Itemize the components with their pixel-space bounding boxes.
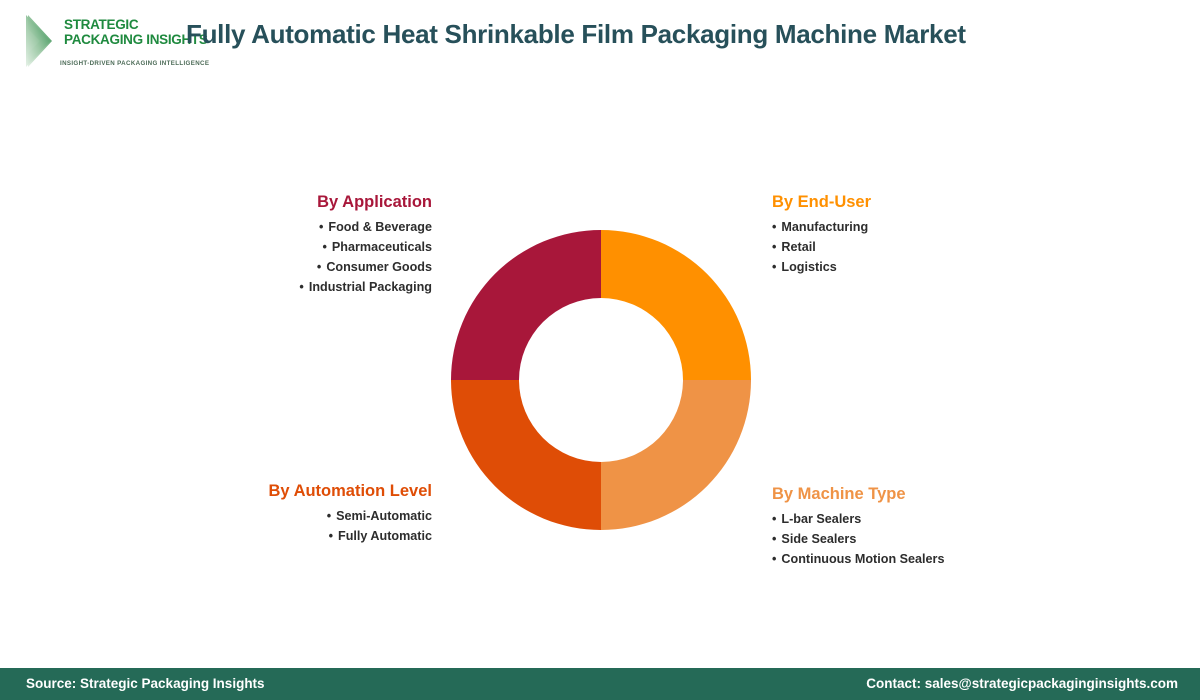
list-item: Retail	[772, 237, 1072, 257]
donut-slice-automation-level	[451, 380, 601, 530]
footer-contact-text[interactable]: Contact: sales@strategicpackaginginsight…	[866, 668, 1178, 700]
list-item: Semi-Automatic	[180, 506, 432, 526]
list-item: Side Sealers	[772, 529, 1092, 549]
logo-line-2: PACKAGING INSIGHTS	[64, 33, 204, 48]
donut-chart	[450, 229, 752, 531]
segment-title-automation-level: By Automation Level	[180, 482, 432, 501]
segment-items-machine-type: L-bar Sealers Side Sealers Continuous Mo…	[772, 509, 1092, 569]
segment-title-machine-type: By Machine Type	[772, 485, 1092, 504]
list-item: Logistics	[772, 257, 1072, 277]
segment-items-end-user: Manufacturing Retail Logistics	[772, 217, 1072, 277]
segment-items-automation-level: Semi-Automatic Fully Automatic	[180, 506, 432, 546]
footer-source-text: Source: Strategic Packaging Insights	[26, 668, 265, 700]
logo-tagline: INSIGHT-DRIVEN PACKAGING INTELLIGENCE	[60, 60, 220, 67]
segment-group-application: By Application Food & Beverage Pharmaceu…	[200, 193, 432, 297]
brand-logo: STRATEGIC PACKAGING INSIGHTS INSIGHT-DRI…	[22, 10, 197, 72]
list-item: Fully Automatic	[180, 526, 432, 546]
donut-slice-end-user	[601, 230, 751, 380]
list-item: Manufacturing	[772, 217, 1072, 237]
segment-group-automation-level: By Automation Level Semi-Automatic Fully…	[180, 482, 432, 546]
segment-items-application: Food & Beverage Pharmaceuticals Consumer…	[200, 217, 432, 297]
list-item: Continuous Motion Sealers	[772, 549, 1092, 569]
list-item: Industrial Packaging	[200, 277, 432, 297]
donut-slice-machine-type	[601, 380, 751, 530]
segment-group-end-user: By End-User Manufacturing Retail Logisti…	[772, 193, 1072, 277]
segment-title-application: By Application	[200, 193, 432, 212]
header: STRATEGIC PACKAGING INSIGHTS INSIGHT-DRI…	[0, 0, 1200, 90]
chevron-right-icon	[22, 13, 64, 69]
segment-title-end-user: By End-User	[772, 193, 1072, 212]
footer-bar: Source: Strategic Packaging Insights Con…	[0, 668, 1200, 700]
segment-group-machine-type: By Machine Type L-bar Sealers Side Seale…	[772, 485, 1092, 569]
logo-line-1: STRATEGIC	[64, 18, 204, 33]
list-item: Pharmaceuticals	[200, 237, 432, 257]
list-item: Food & Beverage	[200, 217, 432, 237]
list-item: Consumer Goods	[200, 257, 432, 277]
page-title: Fully Automatic Heat Shrinkable Film Pac…	[186, 19, 966, 50]
list-item: L-bar Sealers	[772, 509, 1092, 529]
donut-slice-application	[451, 230, 601, 380]
logo-wordmark: STRATEGIC PACKAGING INSIGHTS	[64, 18, 204, 47]
